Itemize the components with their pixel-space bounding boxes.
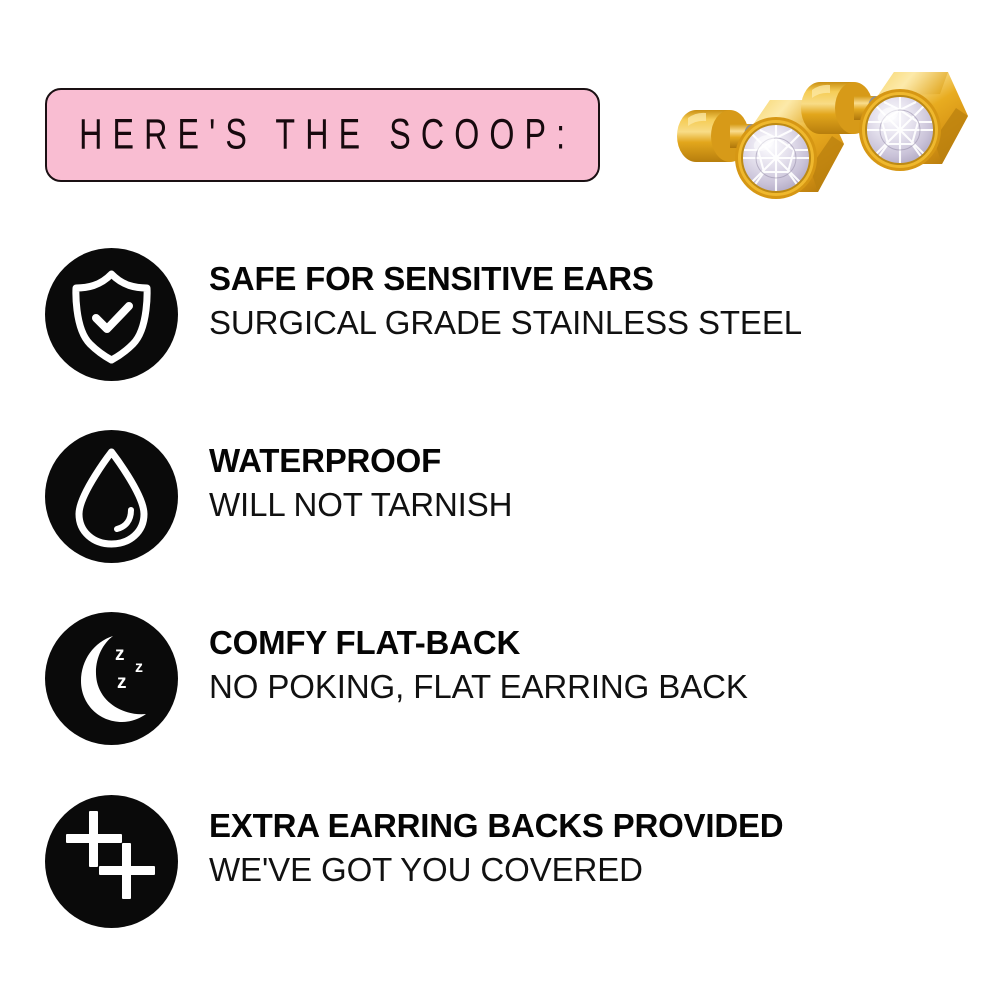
feature-title: SAFE FOR SENSITIVE EARS — [209, 260, 802, 299]
feature-title: WATERPROOF — [209, 442, 512, 481]
shield-check-icon-circle — [45, 248, 178, 381]
svg-text:z: z — [115, 644, 125, 665]
moon-sleep-icon: z z z — [45, 612, 178, 745]
double-plus-icon-circle — [45, 795, 178, 928]
scoop-banner: HERE'S THE SCOOP: — [45, 88, 600, 182]
shield-check-icon — [45, 248, 178, 381]
feature-subtitle: WE'VE GOT YOU COVERED — [209, 850, 783, 890]
svg-text:z: z — [135, 659, 143, 676]
double-plus-icon — [45, 795, 178, 928]
feature-subtitle: NO POKING, FLAT EARRING BACK — [209, 667, 748, 707]
moon-sleep-icon-circle: z z z — [45, 612, 178, 745]
feature-text-comfy: COMFY FLAT-BACK NO POKING, FLAT EARRING … — [209, 612, 748, 707]
feature-title: COMFY FLAT-BACK — [209, 624, 748, 663]
feature-row-comfy-flat-back: z z z COMFY FLAT-BACK NO POKING, FLAT EA… — [45, 612, 945, 745]
feature-subtitle: SURGICAL GRADE STAINLESS STEEL — [209, 303, 802, 343]
feature-subtitle: WILL NOT TARNISH — [209, 485, 512, 525]
feature-row-extra-earring-backs: EXTRA EARRING BACKS PROVIDED WE'VE GOT Y… — [45, 795, 945, 928]
feature-text-waterproof: WATERPROOF WILL NOT TARNISH — [209, 430, 512, 525]
water-drop-icon — [45, 430, 178, 563]
feature-row-safe-for-sensitive-ears: SAFE FOR SENSITIVE EARS SURGICAL GRADE S… — [45, 248, 945, 381]
scoop-banner-label: HERE'S THE SCOOP: — [69, 111, 575, 160]
gold-hexagon-crystal-stud-earrings-illustration — [648, 40, 968, 260]
svg-text:z: z — [117, 672, 127, 693]
product-earring-image — [648, 40, 968, 260]
feature-text-extra-backs: EXTRA EARRING BACKS PROVIDED WE'VE GOT Y… — [209, 795, 783, 890]
water-drop-icon-circle — [45, 430, 178, 563]
feature-row-waterproof: WATERPROOF WILL NOT TARNISH — [45, 430, 945, 563]
feature-title: EXTRA EARRING BACKS PROVIDED — [209, 807, 783, 846]
feature-text-safe: SAFE FOR SENSITIVE EARS SURGICAL GRADE S… — [209, 248, 802, 343]
